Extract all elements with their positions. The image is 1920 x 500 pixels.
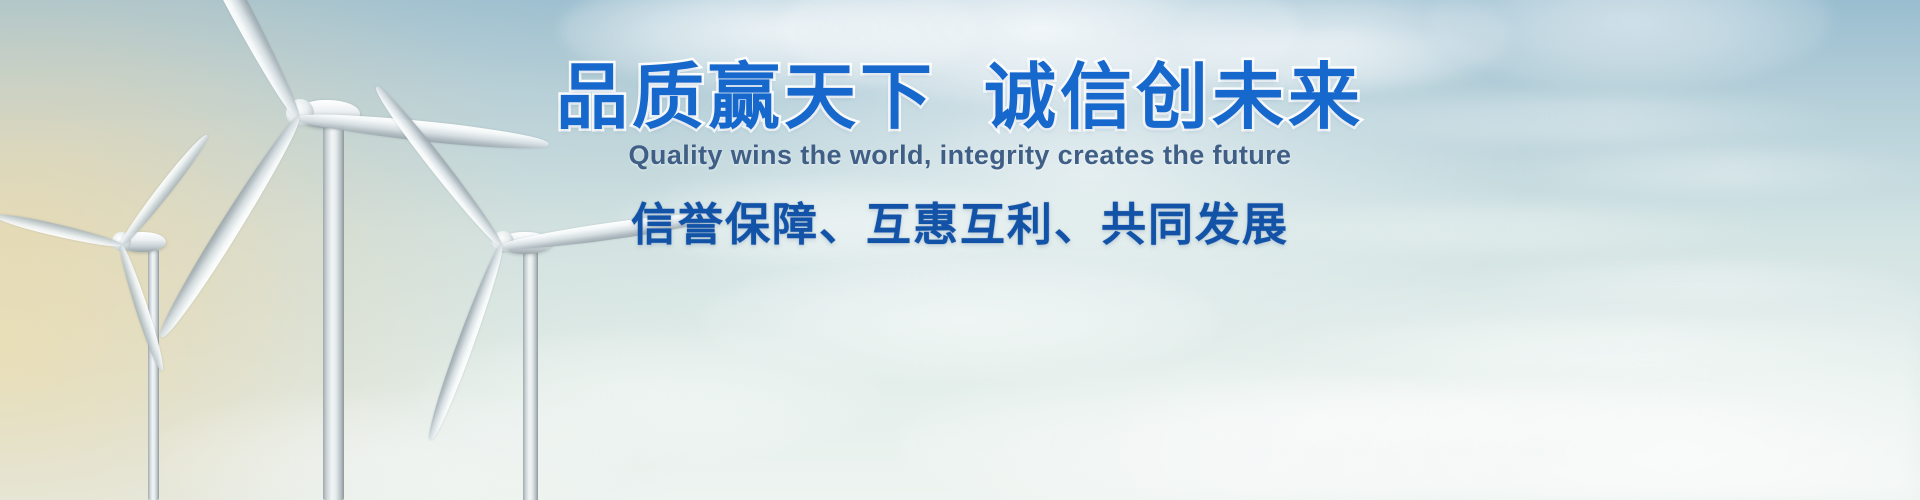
banner-subtitle-english: Quality wins the world, integrity create… [0,142,1920,169]
banner-tagline: 信誉保障、互惠互利、共同发展 [0,202,1920,247]
banner-text-block: 品质赢天下 诚信创未来 Quality wins the world, inte… [0,0,1920,500]
promo-banner: 品质赢天下 诚信创未来 Quality wins the world, inte… [0,0,1920,500]
banner-headline: 品质赢天下 诚信创未来 [0,62,1920,134]
